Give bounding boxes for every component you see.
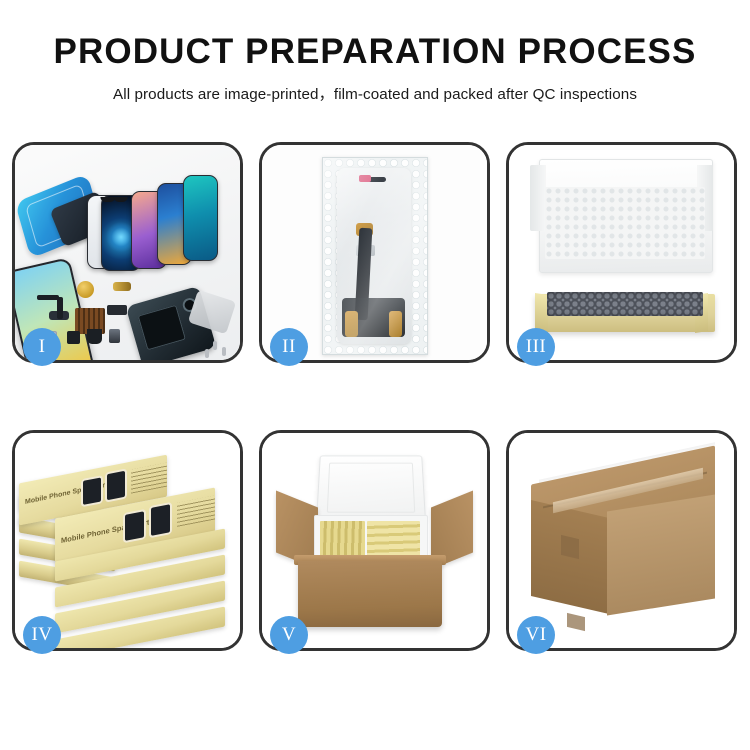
qc-sticker-icon — [359, 175, 371, 182]
carton-right-face-icon — [607, 494, 715, 615]
step-4-image: Mobile Phone Spare Parts Mobile Phone Sp… — [15, 433, 240, 648]
foam-sheet-icon — [545, 187, 705, 259]
part-flex-cable-icon — [113, 282, 131, 291]
step-badge-2: II — [270, 328, 308, 366]
packed-boxes-icon — [320, 521, 420, 559]
page-header: PRODUCT PREPARATION PROCESS All products… — [0, 0, 750, 104]
phone-notch-icon — [114, 197, 128, 202]
box-stack-right — [367, 521, 420, 559]
page-subtitle: All products are image-printed，film-coat… — [0, 82, 750, 104]
step-5-image — [262, 433, 487, 648]
box-flap-left-icon — [530, 165, 546, 231]
lcd-screen-icon — [337, 168, 411, 344]
process-step-panel-1[interactable]: I — [12, 142, 243, 363]
gold-tab-icon — [389, 311, 402, 337]
part-earpiece-icon — [37, 295, 59, 300]
phone-teal-icon — [183, 175, 218, 261]
process-step-panel-5[interactable]: V — [259, 430, 490, 651]
process-step-panel-2[interactable]: II — [259, 142, 490, 363]
process-step-panel-6[interactable]: VI — [506, 430, 737, 651]
screw-icon — [222, 347, 226, 356]
step-badge-3: III — [517, 328, 555, 366]
part-battery-connector-icon — [109, 329, 120, 343]
step-2-image — [262, 145, 487, 360]
page-title: PRODUCT PREPARATION PROCESS — [0, 34, 750, 71]
part-vibration-motor-icon — [77, 281, 94, 298]
screw-icon — [205, 349, 209, 358]
gold-tab-icon — [345, 311, 358, 337]
part-ribbon-icon — [57, 297, 63, 319]
step-1-image — [15, 145, 240, 360]
step-badge-1: I — [23, 328, 61, 366]
box-product-thumbnail — [125, 511, 144, 541]
box-product-thumbnail — [151, 504, 170, 536]
step-badge-5: V — [270, 616, 308, 654]
bubble-wrap-bag-icon — [322, 157, 428, 355]
part-chip-icon — [67, 331, 80, 344]
process-step-panel-4[interactable]: Mobile Phone Spare Parts Mobile Phone Sp… — [12, 430, 243, 651]
step-3-image — [509, 145, 734, 360]
box-spec-lines — [131, 461, 167, 494]
step-badge-6: VI — [517, 616, 555, 654]
box-product-thumbnail — [83, 477, 101, 504]
process-step-grid: I II — [12, 142, 738, 651]
screw-icon — [213, 341, 217, 350]
box-product-thumbnail — [107, 471, 125, 500]
step-badge-4: IV — [23, 616, 61, 654]
step-6-image — [509, 433, 734, 648]
carton-front-icon — [298, 561, 442, 627]
box-spec-lines — [177, 494, 215, 527]
bubble-wrapped-contents-icon — [547, 292, 703, 316]
process-step-panel-3[interactable]: III — [506, 142, 737, 363]
box-stack-left — [320, 521, 365, 559]
foam-lid-icon — [316, 455, 426, 520]
part-connector-icon — [107, 305, 127, 315]
carton-tab-icon — [561, 535, 579, 559]
part-speaker-icon — [87, 329, 102, 344]
